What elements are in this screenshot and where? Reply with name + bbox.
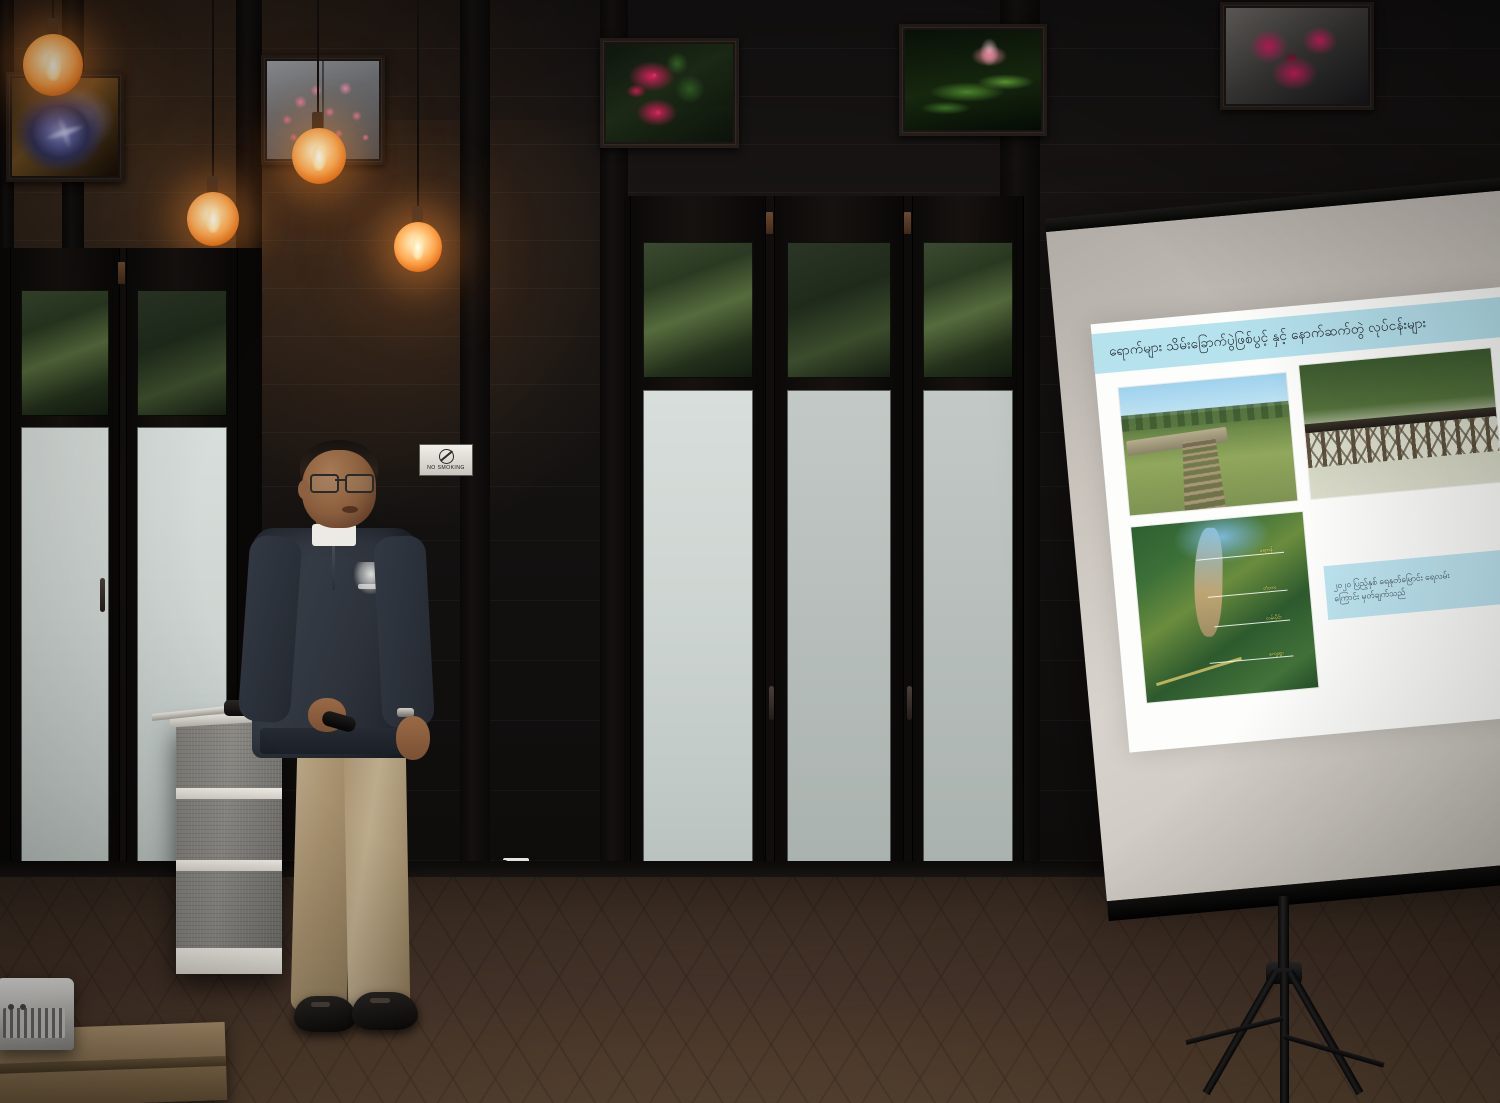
slide-note-box: ၂၀၂၀ ပြည့်နှစ် ရေနုတ်မြောင်း ရေလမ်း ကြော… [1323, 549, 1500, 620]
slide-image-trestle-bridge [1299, 348, 1500, 499]
slide-image-railway-track [1118, 373, 1297, 516]
presenter-arm-right [373, 535, 435, 729]
presenter-shoe-right [352, 992, 418, 1030]
presenter-mouth [342, 506, 358, 513]
presenter-sweater-hem [260, 728, 412, 754]
bougainvillea-image [1226, 8, 1368, 104]
glasses-lens-right [345, 474, 374, 493]
presenter-ear [298, 480, 310, 499]
door-hinge-icon [766, 212, 773, 234]
door-hinge-icon [118, 262, 125, 284]
pendant-bulb-3 [187, 192, 239, 246]
table-edge [0, 1056, 226, 1074]
wall-post-c [460, 0, 490, 985]
framed-photo-water-lily [899, 24, 1047, 136]
framed-photo-bougainvillea [1220, 2, 1374, 110]
door-glass-clear-1 [21, 290, 110, 416]
map-callout-label-4: ကျေးရွာ [1269, 650, 1284, 658]
projection-screen-assembly: ရောက်များ သိမ်းခြောက်ပွဲဖြစ်ပွင့် နှင့် … [1046, 189, 1500, 901]
pendant-bulb-1 [23, 34, 83, 96]
door-handle-right-a[interactable] [769, 686, 774, 720]
door-leaf-5[interactable] [912, 196, 1024, 956]
presentation-slide: ရောက်များ သိမ်းခြောက်ပွဲဖြစ်ပွင့် နှင့် … [1091, 286, 1500, 752]
door-handle-right-b[interactable] [907, 686, 912, 720]
pendant-cord-3 [212, 0, 214, 182]
presenter [236, 440, 456, 1060]
map-callout-label-3: လမ်းပိုင်း [1266, 614, 1282, 622]
door-glass-frosted-1 [21, 427, 110, 921]
presenter-hand-right [396, 716, 430, 760]
door-glass-frosted-3 [643, 390, 753, 926]
map-callout-label-1: ရေကန် [1260, 547, 1274, 555]
slide-note-text: ၂၀၂၀ ပြည့်နှစ် ရေနုတ်မြောင်း ရေလမ်း ကြော… [1325, 568, 1460, 606]
pendant-bulb-2 [292, 128, 346, 184]
door-hinge-icon [904, 212, 911, 234]
water-lily-image [905, 30, 1041, 130]
framed-photo-hollyhock [600, 38, 739, 148]
door-glass-frosted-4 [787, 390, 892, 926]
presenter-wristwatch [397, 708, 414, 717]
video-projector[interactable] [0, 978, 74, 1050]
pendant-cord-2 [317, 0, 319, 118]
door-glass-clear-2 [137, 290, 227, 416]
pendant-bulb-4 [394, 222, 442, 272]
hollyhock-flower-image [606, 44, 733, 142]
presenter-leg-right [344, 739, 411, 1012]
door-glass-clear-4 [787, 242, 892, 379]
pendant-cord-4 [417, 0, 419, 212]
glasses-lens-left [310, 474, 339, 493]
tripod-mast [1278, 896, 1289, 968]
slide-image-aerial-map: ရေကန် တံတား လမ်းပိုင်း ကျေးရွာ [1131, 512, 1318, 703]
photo-scene: NO SMOKING [0, 0, 1500, 1103]
door-leaf-4[interactable] [774, 196, 904, 956]
door-leaf-3[interactable] [630, 196, 766, 956]
door-glass-frosted-5 [923, 390, 1013, 926]
presenter-shoe-left [294, 996, 356, 1032]
presenter-glasses [310, 474, 372, 489]
projector-status-led [20, 1004, 26, 1010]
projector-power-led [8, 1004, 14, 1010]
projector-vent-grille [3, 1008, 65, 1038]
door-glass-clear-3 [643, 242, 753, 379]
folding-door-group-right[interactable] [624, 196, 1024, 956]
door-glass-clear-5 [923, 242, 1013, 379]
door-handle-left[interactable] [100, 578, 105, 612]
slide-title-text: ရောက်များ သိမ်းခြောက်ပွဲဖြစ်ပွင့် နှင့် … [1092, 314, 1427, 364]
map-callout-label-2: တံတား [1263, 585, 1277, 593]
map-river [1194, 528, 1223, 637]
